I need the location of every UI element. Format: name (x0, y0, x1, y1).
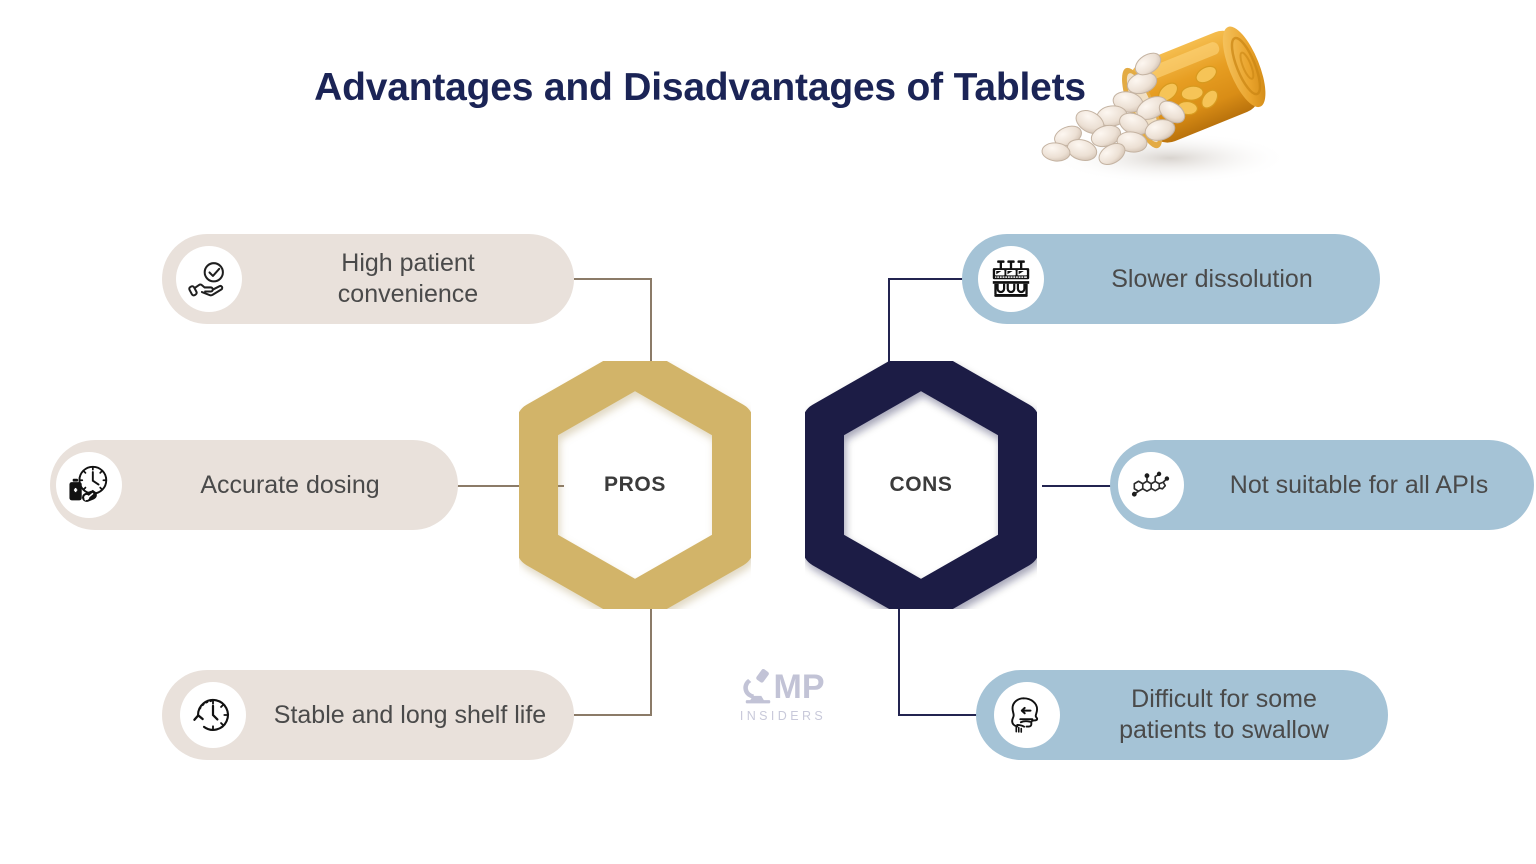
dissolution-apparatus-icon (978, 246, 1044, 312)
pros-hexagon[interactable]: PROS (519, 361, 751, 609)
pros-item-high-patient-convenience[interactable]: High patient convenience (162, 234, 574, 324)
cons-item-label: Difficult for some patients to swallow (1060, 684, 1388, 746)
cons-item-slower-dissolution[interactable]: Slower dissolution (962, 234, 1380, 324)
microscope-icon (742, 668, 774, 704)
cons-item-difficult-to-swallow[interactable]: Difficult for some patients to swallow (976, 670, 1388, 760)
cons-hexagon[interactable]: CONS (805, 361, 1037, 609)
hand-holding-checkmark-icon (176, 246, 242, 312)
cons-item-not-suitable-for-all-apis[interactable]: Not suitable for all APIs (1110, 440, 1534, 530)
connector-cons-top-horizontal (888, 278, 968, 280)
clock-rotate-arrow-icon (180, 682, 246, 748)
cons-item-label: Slower dissolution (1044, 264, 1380, 295)
watermark-letters: MP (774, 670, 825, 704)
pros-hexagon-label: PROS (519, 361, 751, 609)
pros-item-accurate-dosing[interactable]: Accurate dosing (50, 440, 458, 530)
molecular-structure-icon (1118, 452, 1184, 518)
connector-cons-bottom-horizontal (898, 714, 984, 716)
infographic-canvas: Advantages and Disadvantages of Tablets (0, 0, 1536, 864)
connector-pros-bottom-horizontal (574, 714, 652, 716)
pros-item-label: Accurate dosing (122, 470, 458, 501)
head-swallowing-throat-icon (994, 682, 1060, 748)
spilled-pill-bottle-image (1020, 18, 1300, 208)
pros-item-stable-long-shelf-life[interactable]: Stable and long shelf life (162, 670, 574, 760)
watermark-subtitle: INSIDERS (740, 709, 826, 723)
cons-item-label: Not suitable for all APIs (1184, 470, 1534, 501)
cons-hexagon-label: CONS (805, 361, 1037, 609)
pros-item-label: Stable and long shelf life (246, 700, 574, 731)
page-title: Advantages and Disadvantages of Tablets (290, 62, 1110, 113)
watermark-logo: MP INSIDERS (727, 668, 839, 746)
pros-item-label: High patient convenience (242, 248, 574, 310)
connector-pros-top-horizontal (574, 278, 652, 280)
clock-with-medicine-bottle-icon (56, 452, 122, 518)
